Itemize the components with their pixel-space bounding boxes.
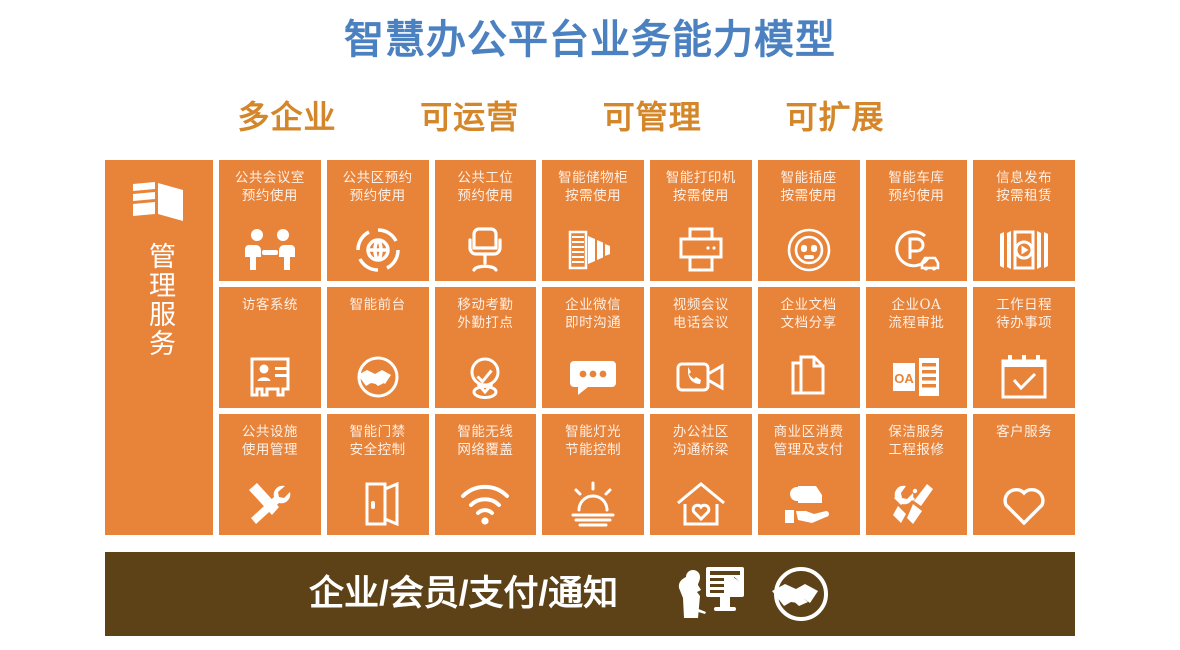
card-label: 智能无线 网络覆盖: [457, 423, 513, 459]
card-label: 视频会议 电话会议: [673, 296, 729, 332]
house-heart-icon: [674, 480, 728, 528]
card-public-facility[interactable]: 公共设施 使用管理: [219, 414, 321, 535]
light-sunrise-icon: [566, 480, 620, 528]
side-panel-label: 管理服务: [140, 242, 178, 358]
card-label: 工作日程 待办事项: [996, 296, 1052, 332]
card-label: 企业微信 即时沟通: [565, 296, 621, 332]
card-wifi-coverage[interactable]: 智能无线 网络覆盖: [435, 414, 537, 535]
card-label: 信息发布 按需租赁: [996, 169, 1052, 205]
parking-car-icon: [889, 226, 943, 274]
platform-foundation-bar: 企业/会员/支付/通知: [105, 552, 1075, 636]
location-check-icon: [458, 353, 512, 401]
handshake-circle-icon: [764, 563, 838, 625]
card-enterprise-oa[interactable]: 企业OA 流程审批 OA: [866, 287, 968, 408]
card-label: 保洁服务 工程报修: [888, 423, 944, 459]
card-label: 公共设施 使用管理: [242, 423, 298, 459]
card-public-area-booking[interactable]: 公共区预约 预约使用: [327, 160, 429, 281]
card-label: 办公社区 沟通桥梁: [673, 423, 729, 459]
capability-board: 管理服务 公共会议室 预约使用 公共区预约 预约使用: [105, 160, 1075, 535]
globe-network-icon: [351, 226, 405, 274]
card-workstation-booking[interactable]: 公共工位 预约使用: [435, 160, 537, 281]
video-call-icon: [674, 353, 728, 401]
pillar-1: 可运营: [379, 95, 561, 139]
card-label: 商业区消费 管理及支付: [774, 423, 844, 459]
pillar-3: 可扩展: [744, 95, 926, 139]
card-access-control[interactable]: 智能门禁 安全控制: [327, 414, 429, 535]
open-book-icon: [131, 180, 187, 224]
tools-icon: [243, 480, 297, 528]
footer-icon-group: [674, 563, 838, 625]
office-chair-icon: [458, 226, 512, 274]
oa-workflow-icon: OA: [889, 353, 943, 401]
card-info-display[interactable]: 信息发布 按需租赁: [973, 160, 1075, 281]
heart-icon: [997, 480, 1051, 528]
card-smart-lighting[interactable]: 智能灯光 节能控制: [542, 414, 644, 535]
card-mobile-attendance[interactable]: 移动考勤 外勤打点: [435, 287, 537, 408]
media-display-icon: [997, 226, 1051, 274]
printer-icon: [674, 226, 728, 274]
presentation-person-icon: [674, 563, 748, 625]
pillar-2: 可管理: [561, 95, 743, 139]
card-work-calendar[interactable]: 工作日程 待办事项: [973, 287, 1075, 408]
page-title: 智慧办公平台业务能力模型: [0, 14, 1180, 66]
card-label: 客户服务: [996, 423, 1052, 441]
wifi-icon: [458, 480, 512, 528]
side-panel-management-service[interactable]: 管理服务: [105, 160, 213, 535]
card-smart-garage[interactable]: 智能车库 预约使用: [866, 160, 968, 281]
card-label: 智能打印机 按需使用: [666, 169, 736, 205]
card-smart-printer[interactable]: 智能打印机 按需使用: [650, 160, 752, 281]
card-label: 智能储物柜 按需使用: [558, 169, 628, 205]
footer-label: 企业/会员/支付/通知: [309, 571, 618, 617]
card-smart-socket[interactable]: 智能插座 按需使用: [758, 160, 860, 281]
capability-pillars: 多企业 可运营 可管理 可扩展: [196, 95, 926, 139]
card-label: 智能门禁 安全控制: [350, 423, 406, 459]
card-visitor-system[interactable]: 访客系统: [219, 287, 321, 408]
card-label: 企业OA 流程审批: [888, 296, 944, 332]
calendar-check-icon: [997, 353, 1051, 401]
card-label: 智能车库 预约使用: [888, 169, 944, 205]
card-video-conference[interactable]: 视频会议 电话会议: [650, 287, 752, 408]
chat-bubble-icon: [566, 353, 620, 401]
card-label: 访客系统: [242, 296, 298, 314]
pillar-0: 多企业: [196, 95, 378, 139]
door-access-icon: [351, 480, 405, 528]
capability-grid: 公共会议室 预约使用 公共区预约 预约使用: [219, 160, 1075, 535]
card-office-community[interactable]: 办公社区 沟通桥梁: [650, 414, 752, 535]
card-smart-locker[interactable]: 智能储物柜 按需使用: [542, 160, 644, 281]
card-enterprise-wechat[interactable]: 企业微信 即时沟通: [542, 287, 644, 408]
card-meeting-room[interactable]: 公共会议室 预约使用: [219, 160, 321, 281]
card-label: 公共会议室 预约使用: [235, 169, 305, 205]
card-customer-service[interactable]: 客户服务: [973, 414, 1075, 535]
card-enterprise-docs[interactable]: 企业文档 文档分享: [758, 287, 860, 408]
card-label: 公共区预约 预约使用: [343, 169, 413, 205]
card-label: 智能插座 按需使用: [781, 169, 837, 205]
visitor-badge-icon: [243, 353, 297, 401]
card-cleaning-repair[interactable]: 保洁服务 工程报修: [866, 414, 968, 535]
meeting-people-icon: [243, 226, 297, 274]
wrench-broom-icon: [889, 480, 943, 528]
card-label: 移动考勤 外勤打点: [457, 296, 513, 332]
power-socket-icon: [782, 226, 836, 274]
documents-icon: [782, 353, 836, 401]
card-label: 公共工位 预约使用: [457, 169, 513, 205]
hand-shop-icon: [782, 480, 836, 528]
card-smart-reception[interactable]: 智能前台: [327, 287, 429, 408]
lockers-icon: [566, 226, 620, 274]
handshake-circle-icon: [351, 353, 405, 401]
card-label: 企业文档 文档分享: [781, 296, 837, 332]
card-label: 智能灯光 节能控制: [565, 423, 621, 459]
card-commercial-payment[interactable]: 商业区消费 管理及支付: [758, 414, 860, 535]
svg-text:OA: OA: [895, 371, 915, 386]
card-label: 智能前台: [350, 296, 406, 314]
